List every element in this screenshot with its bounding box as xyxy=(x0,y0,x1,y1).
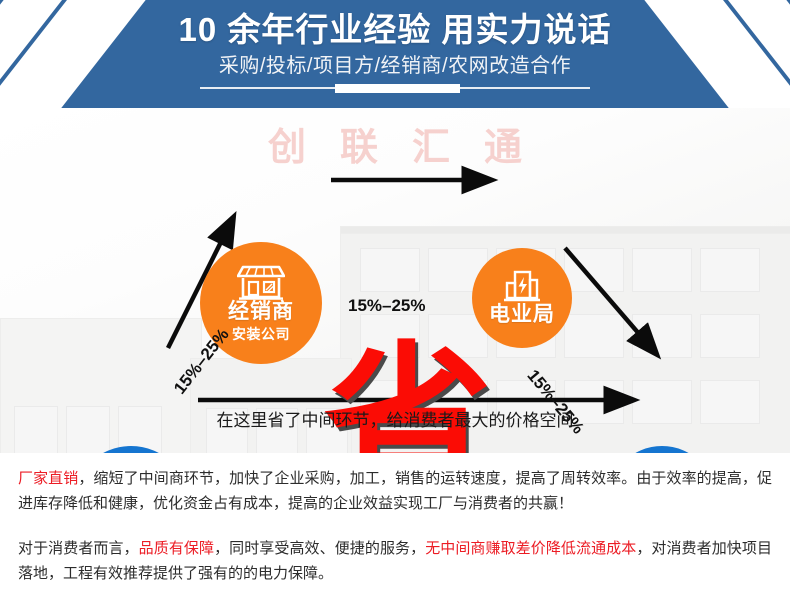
flow-diagram: 创联汇通 xyxy=(0,108,790,453)
banner-divider-block xyxy=(335,84,460,93)
shop-icon xyxy=(237,264,285,300)
header-banner: 10 余年行业经验 用实力说话 采购/投标/项目方/经销商/农网改造合作 xyxy=(0,0,790,108)
banner-divider xyxy=(200,84,590,94)
paragraph-two-middle: ，同时享受高效、便捷的服务， xyxy=(214,540,425,557)
paragraph-one-body: ，缩短了中间商环节，加快了企业采购，加工，销售的运转速度，提高了周转效率。由于效… xyxy=(18,470,772,512)
node-dealer-sublabel: 安装公司 xyxy=(232,325,290,343)
power-building-icon xyxy=(502,269,542,303)
footer-description: 厂家直销，缩短了中间商环节，加快了企业采购，加工，销售的运转速度，提高了周转效率… xyxy=(0,453,790,602)
banner-subtitle: 采购/投标/项目方/经销商/农网改造合作 xyxy=(0,53,790,79)
arrow-label-dealer-to-power: 15%–25% xyxy=(348,296,426,316)
arrow-label-factory-to-consumer: 在这里省了中间环节，给消费者最大的价格空间 xyxy=(200,406,590,431)
paragraph-two-highlight-two: 无中间商赚取差价降低流通成本 xyxy=(425,540,636,557)
paragraph-two-lead: 对于消费者而言， xyxy=(18,540,139,557)
arrow-power-to-consumer xyxy=(565,248,640,335)
paragraph-two-highlight-one: 品质有保障 xyxy=(139,540,214,557)
save-character: 省 xyxy=(318,340,498,453)
paragraph-two: 对于消费者而言，品质有保障，同时享受高效、便捷的服务，无中间商赚取差价降低流通成… xyxy=(0,516,790,586)
paragraph-one-highlight: 厂家直销 xyxy=(18,470,78,487)
node-dealer-label: 经销商 xyxy=(228,300,294,324)
node-power-bureau-label: 电业局 xyxy=(489,303,555,327)
banner-title: 10 余年行业经验 用实力说话 xyxy=(0,9,790,51)
paragraph-one: 厂家直销，缩短了中间商环节，加快了企业采购，加工，销售的运转速度，提高了周转效率… xyxy=(0,453,790,516)
promo-page: 10 余年行业经验 用实力说话 采购/投标/项目方/经销商/农网改造合作 xyxy=(0,0,790,602)
